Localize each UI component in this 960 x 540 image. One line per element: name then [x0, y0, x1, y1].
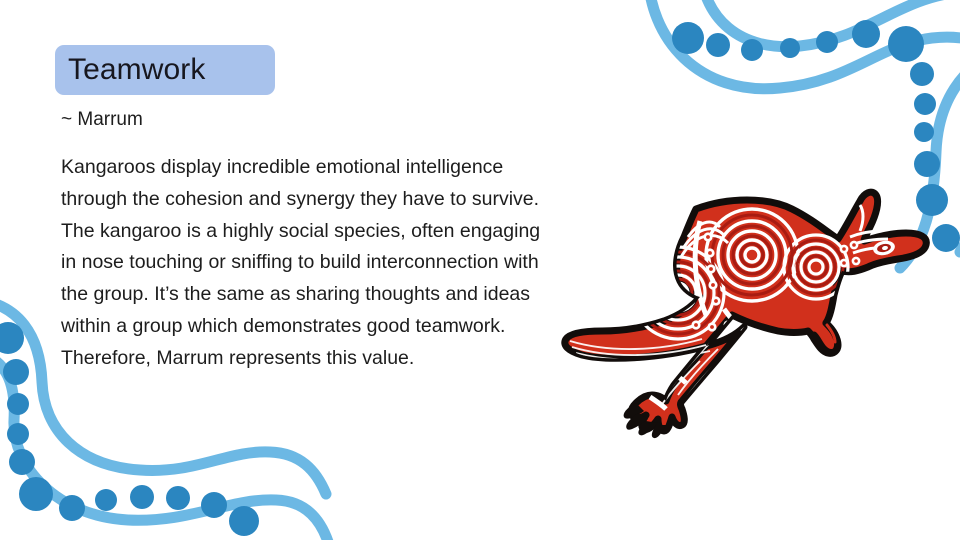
body-paragraph: Kangaroos display incredible emotional i…: [61, 152, 547, 375]
subtitle: ~ Marrum: [61, 107, 143, 133]
page-title: Teamwork: [68, 48, 368, 92]
slide-canvas: Teamwork ~ Marrum Kangaroos display incr…: [0, 0, 960, 540]
aboriginal-kangaroo: [520, 175, 950, 445]
